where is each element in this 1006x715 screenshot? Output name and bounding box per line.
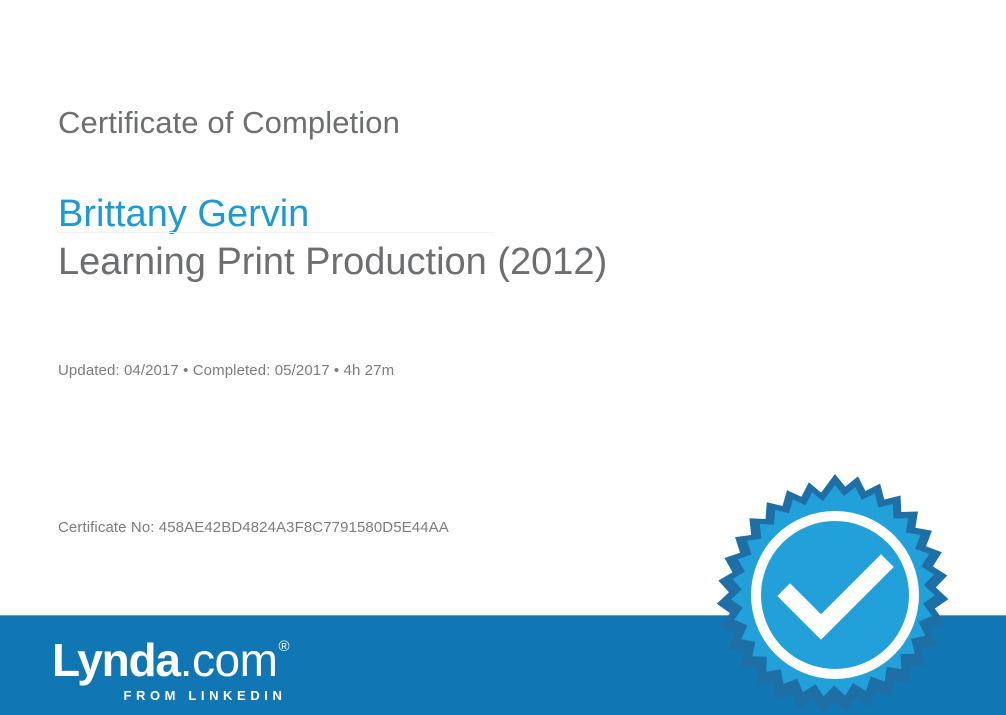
lynda-logo-brand: Lynda <box>52 634 180 686</box>
course-title: Learning Print Production (2012) <box>58 240 607 286</box>
course-metadata: Updated: 04/2017 • Completed: 05/2017 • … <box>58 362 394 379</box>
certificate-page: Certificate of Completion Brittany Gervi… <box>0 0 1006 715</box>
lynda-logo-wordmark: Lynda.com® <box>52 637 289 683</box>
registered-trademark-icon: ® <box>278 638 289 655</box>
recipient-name: Brittany Gervin <box>58 193 758 237</box>
certificate-number: Certificate No: 458AE42BD4824A3F8C779158… <box>58 519 449 536</box>
lynda-logo-domain: .com <box>180 634 278 686</box>
completion-badge-icon <box>712 472 958 715</box>
lynda-logo-tagline: FROM LINKEDIN <box>52 689 289 702</box>
page-title: Certificate of Completion <box>58 105 758 141</box>
title-divider <box>58 232 495 233</box>
certificate-text-block: Certificate of Completion Brittany Gervi… <box>58 105 758 236</box>
lynda-logo: Lynda.com® FROM LINKEDIN <box>52 637 289 702</box>
